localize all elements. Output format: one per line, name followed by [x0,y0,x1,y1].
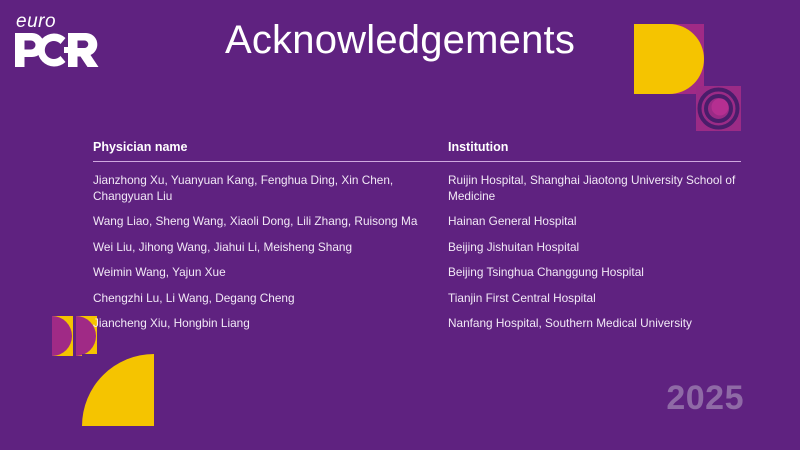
acknowledgements-table: Physician name Institution Jianzhong Xu,… [93,140,741,337]
table-row: Chengzhi Lu, Li Wang, Degang Cheng Tianj… [93,286,741,312]
cell-institution: Beijing Tsinghua Changgung Hospital [448,265,741,281]
cell-institution: Tianjin First Central Hospital [448,291,741,307]
table-row: Wei Liu, Jihong Wang, Jiahui Li, Meishen… [93,235,741,261]
cell-physician-name: Chengzhi Lu, Li Wang, Degang Cheng [93,291,448,307]
column-header-institution: Institution [448,140,741,154]
table-body: Jianzhong Xu, Yuanyuan Kang, Fenghua Din… [93,162,741,337]
cell-institution: Ruijin Hospital, Shanghai Jiaotong Unive… [448,173,741,204]
cell-physician-name: Weimin Wang, Yajun Xue [93,265,448,281]
cell-institution: Nanfang Hospital, Southern Medical Unive… [448,316,741,332]
cell-institution: Hainan General Hospital [448,214,741,230]
column-header-physician-name: Physician name [93,140,448,154]
footer-year: 2025 [666,379,744,418]
cell-institution: Beijing Jishuitan Hospital [448,240,741,256]
table-row: Weimin Wang, Yajun Xue Beijing Tsinghua … [93,260,741,286]
table-row: Wang Liao, Sheng Wang, Xiaoli Dong, Lili… [93,209,741,235]
cell-physician-name: Jiancheng Xiu, Hongbin Liang [93,316,448,332]
table-row: Jiancheng Xiu, Hongbin Liang Nanfang Hos… [93,311,741,337]
decoration-top-right [634,24,744,139]
slide: euro Acknowledgements [0,0,800,450]
table-row: Jianzhong Xu, Yuanyuan Kang, Fenghua Din… [93,168,741,209]
table-header-row: Physician name Institution [93,140,741,161]
cell-physician-name: Wang Liao, Sheng Wang, Xiaoli Dong, Lili… [93,214,448,230]
cell-physician-name: Jianzhong Xu, Yuanyuan Kang, Fenghua Din… [93,173,448,204]
cell-physician-name: Wei Liu, Jihong Wang, Jiahui Li, Meishen… [93,240,448,256]
